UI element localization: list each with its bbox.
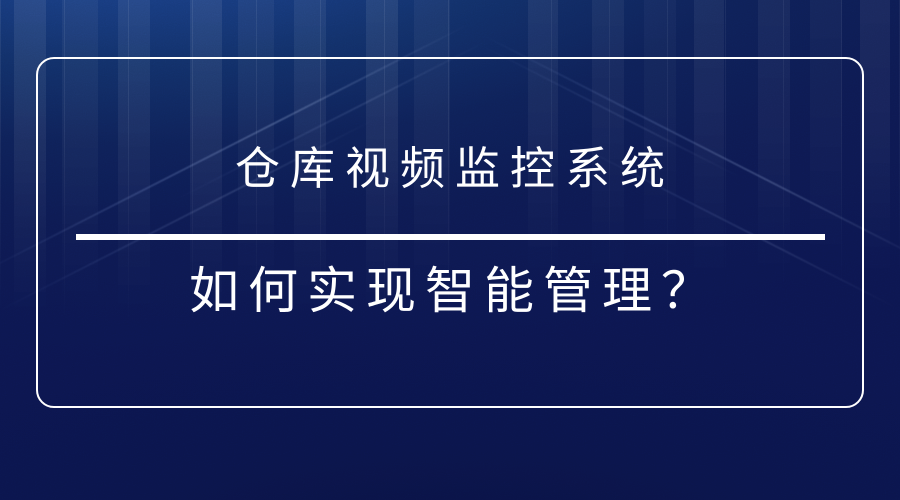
promo-banner: 仓库视频监控系统 如何实现智能管理？ [0, 0, 900, 500]
banner-content: 仓库视频监控系统 如何实现智能管理？ [0, 0, 900, 500]
title-divider [76, 234, 825, 240]
banner-title: 仓库视频监控系统 [0, 146, 900, 191]
banner-subtitle: 如何实现智能管理？ [0, 266, 900, 316]
